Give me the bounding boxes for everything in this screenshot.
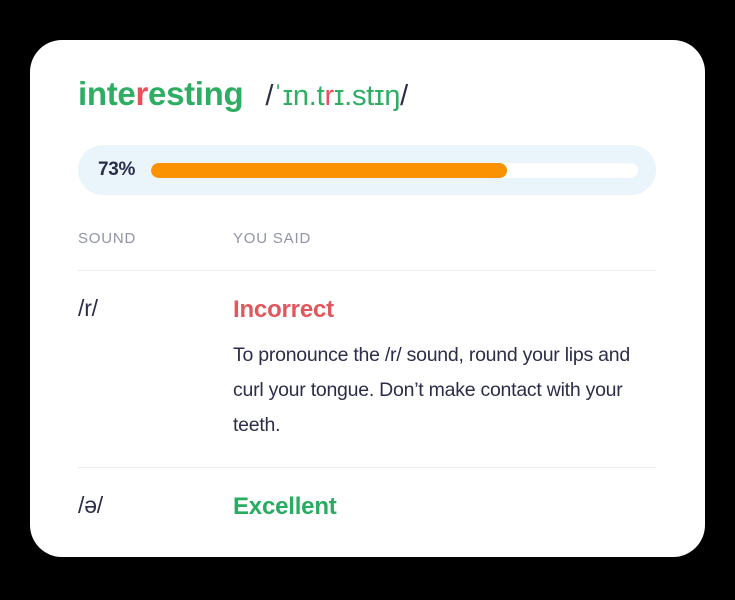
score-progress-bar: 73% <box>78 145 656 195</box>
row-feedback-cell: Incorrect To pronounce the /r/ sound, ro… <box>233 296 656 443</box>
ipa-prefix: ˈɪn.t <box>273 80 324 112</box>
sound-phoneme: /r/ <box>78 296 233 321</box>
column-header-sound: SOUND <box>78 230 233 247</box>
target-word: interesting <box>78 75 243 113</box>
sounds-table: SOUND YOU SAID /r/ Incorrect To pronounc… <box>78 230 656 544</box>
pronunciation-feedback-card: interesting /ˈɪn.trɪ.stɪŋ/ 73% SOUND YOU… <box>30 40 705 557</box>
row-feedback-cell: Excellent <box>233 493 656 521</box>
table-row[interactable]: /r/ Incorrect To pronounce the /r/ sound… <box>78 271 656 467</box>
progress-fill <box>151 163 506 178</box>
ipa-highlighted-phoneme: r <box>325 80 334 112</box>
status-badge: Excellent <box>233 493 656 521</box>
ipa-close-slash: / <box>400 80 408 112</box>
ipa-suffix: ɪ.stɪŋ <box>334 80 400 112</box>
status-badge: Incorrect <box>233 296 656 324</box>
progress-track <box>151 163 638 178</box>
word-prefix: inte <box>78 75 135 112</box>
word-suffix: esting <box>148 75 243 112</box>
row-sound-cell: /r/ <box>78 296 233 443</box>
table-row[interactable]: /ə/ Excellent <box>78 468 656 545</box>
ipa-transcription: /ˈɪn.trɪ.stɪŋ/ <box>265 80 408 113</box>
app-background: interesting /ˈɪn.trɪ.stɪŋ/ 73% SOUND YOU… <box>0 0 735 600</box>
table-header-row: SOUND YOU SAID <box>78 230 656 270</box>
word-highlighted-letter: r <box>135 75 148 112</box>
sound-phoneme: /ə/ <box>78 493 233 518</box>
pronunciation-tip: To pronounce the /r/ sound, round your l… <box>233 338 656 443</box>
word-heading: interesting /ˈɪn.trɪ.stɪŋ/ <box>78 75 408 113</box>
column-header-you-said: YOU SAID <box>233 230 656 247</box>
score-percent-label: 73% <box>98 159 135 181</box>
row-sound-cell: /ə/ <box>78 493 233 521</box>
